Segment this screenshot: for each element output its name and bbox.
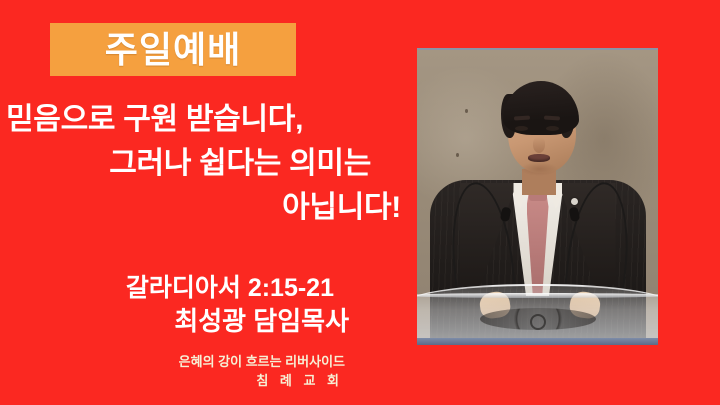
speaker-photo — [417, 48, 658, 345]
photo-scene — [417, 50, 658, 345]
sermon-reference-block: 갈라디아서 2:15-21 최성광 담임목사 — [0, 272, 352, 338]
nose — [533, 137, 545, 153]
headline-line-3: 아닙니다! — [0, 186, 408, 230]
sermon-headline: 믿음으로 구원 받습니다, 그러나 쉽다는 의미는 아닙니다! — [0, 98, 408, 230]
headline-line-1: 믿음으로 구원 받습니다, — [0, 98, 408, 142]
headline-line-2: 그러나 쉽다는 의미는 — [0, 142, 408, 186]
pulpit-edge — [417, 293, 658, 298]
chin-shadow — [520, 162, 558, 176]
wall-speck — [456, 153, 459, 157]
eye-right — [546, 126, 559, 131]
church-name-line-2: 침 례 교 회 — [0, 371, 345, 390]
sermon-slide: 주일예배 믿음으로 구원 받습니다, 그러나 쉽다는 의미는 아닙니다! 갈라디… — [0, 0, 720, 405]
service-title-badge: 주일예배 — [50, 23, 296, 76]
church-name-block: 은혜의 강이 흐르는 리버사이드 침 례 교 회 — [0, 352, 345, 390]
service-title-label: 주일예배 — [105, 32, 241, 68]
pulpit-emblem-center — [530, 314, 546, 330]
photo-bottom-strip — [417, 338, 658, 345]
church-name-line-1: 은혜의 강이 흐르는 리버사이드 — [0, 352, 345, 371]
scripture-reference: 갈라디아서 2:15-21 — [0, 272, 352, 304]
speaker-name: 최성광 담임목사 — [0, 304, 352, 338]
mouth — [528, 154, 550, 162]
eye-left — [515, 126, 528, 131]
lapel-pin — [571, 198, 578, 205]
